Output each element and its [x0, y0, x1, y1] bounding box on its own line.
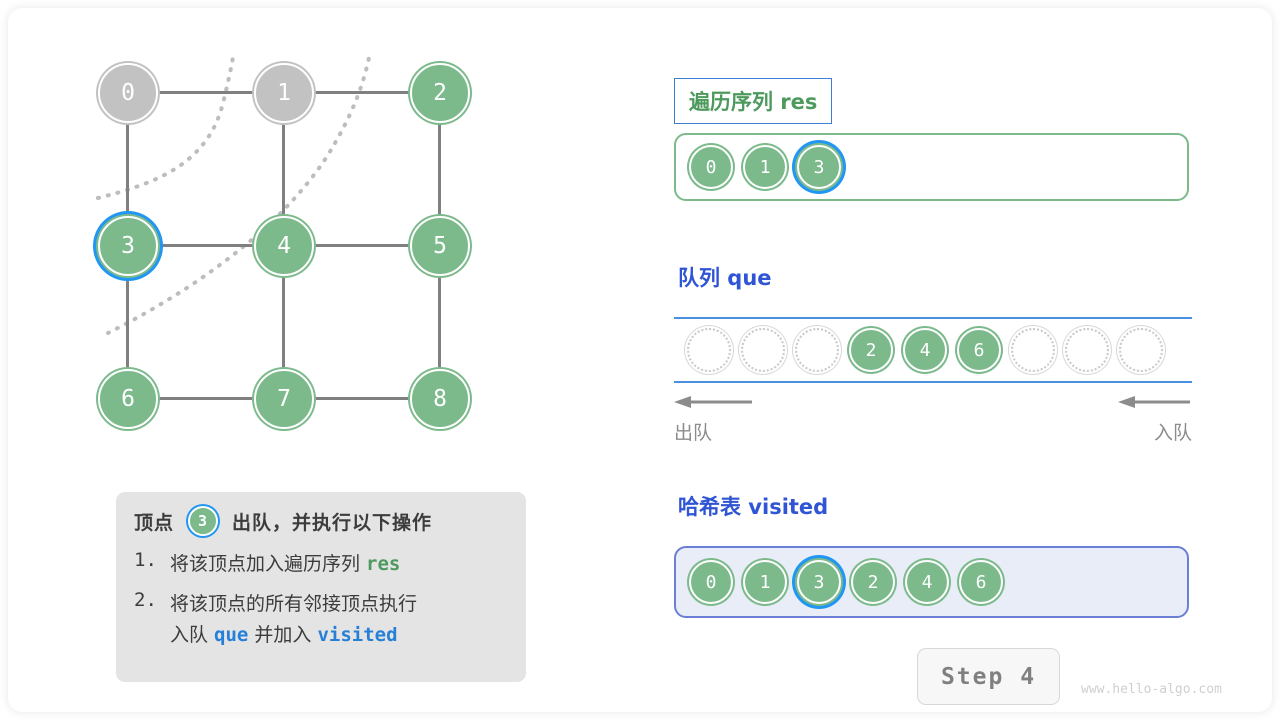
enqueue-label: 入队	[1118, 418, 1192, 445]
res-section-title: 遍历序列 res	[674, 78, 832, 124]
graph-node-3[interactable]: 3	[98, 216, 158, 276]
graph-node-7[interactable]: 7	[254, 369, 314, 429]
enqueue-indicator: 入队	[1118, 394, 1192, 445]
info-step-2-code-visited: visited	[317, 624, 397, 646]
info-step-2-cont-number	[134, 620, 170, 647]
info-box-title: 顶点 3 出队，并执行以下操作	[134, 506, 508, 536]
que-cell-empty[interactable]	[1011, 328, 1055, 372]
info-node-badge: 3	[188, 506, 218, 536]
info-step-2-plain-a: 入队	[170, 624, 214, 646]
res-cell[interactable]: 1	[743, 145, 787, 189]
que-cell-empty[interactable]	[687, 328, 731, 372]
que-cell-empty[interactable]	[1119, 328, 1163, 372]
arrow-left-icon	[674, 394, 754, 410]
que-cell-empty[interactable]	[795, 328, 839, 372]
graph-node-5[interactable]: 5	[410, 216, 470, 276]
cut-boundary-curve	[98, 63, 568, 483]
graph-node-0[interactable]: 0	[98, 63, 158, 123]
watermark: www.hello-algo.com	[1081, 682, 1222, 697]
dequeue-label: 出队	[674, 418, 754, 445]
visited-cell[interactable]: 4	[905, 560, 949, 604]
visited-set: 0 1 3 2 4 6	[674, 546, 1189, 618]
info-title-prefix: 顶点	[134, 508, 174, 535]
que-top-rule	[674, 317, 1192, 319]
graph-node-8[interactable]: 8	[410, 369, 470, 429]
step-badge: Step 4	[917, 648, 1060, 705]
info-step-2-plain-b: 并加入	[248, 624, 317, 646]
que-cell-empty[interactable]	[741, 328, 785, 372]
info-step-2-cont: 入队 que 并加入 visited	[134, 620, 508, 647]
que-bottom-rule	[674, 381, 1192, 383]
que-cell-empty[interactable]	[1065, 328, 1109, 372]
info-step-2-cont-text: 入队 que 并加入 visited	[170, 620, 398, 647]
que-array: 2 4 6	[674, 317, 1192, 383]
info-step-1-number: 1.	[134, 549, 170, 576]
que-cell[interactable]: 4	[903, 328, 947, 372]
res-array: 0 1 3	[674, 133, 1189, 201]
slide-card: 0 1 2 3 4 5 6 7 8 顶点 3 出队，并执行以下操作 1. 将该顶…	[8, 8, 1272, 712]
que-cells: 2 4 6	[687, 328, 1173, 372]
visited-cell-highlighted[interactable]: 3	[797, 560, 841, 604]
visited-cell[interactable]: 1	[743, 560, 787, 604]
operation-info-box: 顶点 3 出队，并执行以下操作 1. 将该顶点加入遍历序列 res 2. 将该顶…	[116, 492, 526, 682]
visited-cell[interactable]: 6	[959, 560, 1003, 604]
info-step-1-code: res	[366, 553, 400, 575]
que-cell[interactable]: 2	[849, 328, 893, 372]
visited-section-title: 哈希表 visited	[678, 491, 828, 521]
graph-node-1[interactable]: 1	[254, 63, 314, 123]
arrow-left-icon	[1118, 394, 1192, 410]
graph-node-4[interactable]: 4	[254, 216, 314, 276]
info-step-2-code-que: que	[214, 624, 248, 646]
visited-cell[interactable]: 2	[851, 560, 895, 604]
res-cell[interactable]: 0	[689, 145, 733, 189]
graph-diagram: 0 1 2 3 4 5 6 7 8	[98, 63, 568, 483]
info-step-2-number: 2.	[134, 589, 170, 616]
graph-node-2[interactable]: 2	[410, 63, 470, 123]
info-title-suffix: 出队，并执行以下操作	[232, 508, 432, 535]
info-step-1-plain: 将该顶点加入遍历序列	[170, 553, 366, 575]
que-section-title: 队列 que	[678, 262, 772, 292]
info-step-2: 2. 将该顶点的所有邻接顶点执行	[134, 589, 508, 616]
res-cell-highlighted[interactable]: 3	[797, 145, 841, 189]
graph-node-6[interactable]: 6	[98, 369, 158, 429]
info-step-1: 1. 将该顶点加入遍历序列 res	[134, 549, 508, 576]
dequeue-indicator: 出队	[674, 394, 754, 445]
info-step-1-text: 将该顶点加入遍历序列 res	[170, 549, 400, 576]
info-step-2-text: 将该顶点的所有邻接顶点执行	[170, 589, 417, 616]
que-cell[interactable]: 6	[957, 328, 1001, 372]
visited-cell[interactable]: 0	[689, 560, 733, 604]
